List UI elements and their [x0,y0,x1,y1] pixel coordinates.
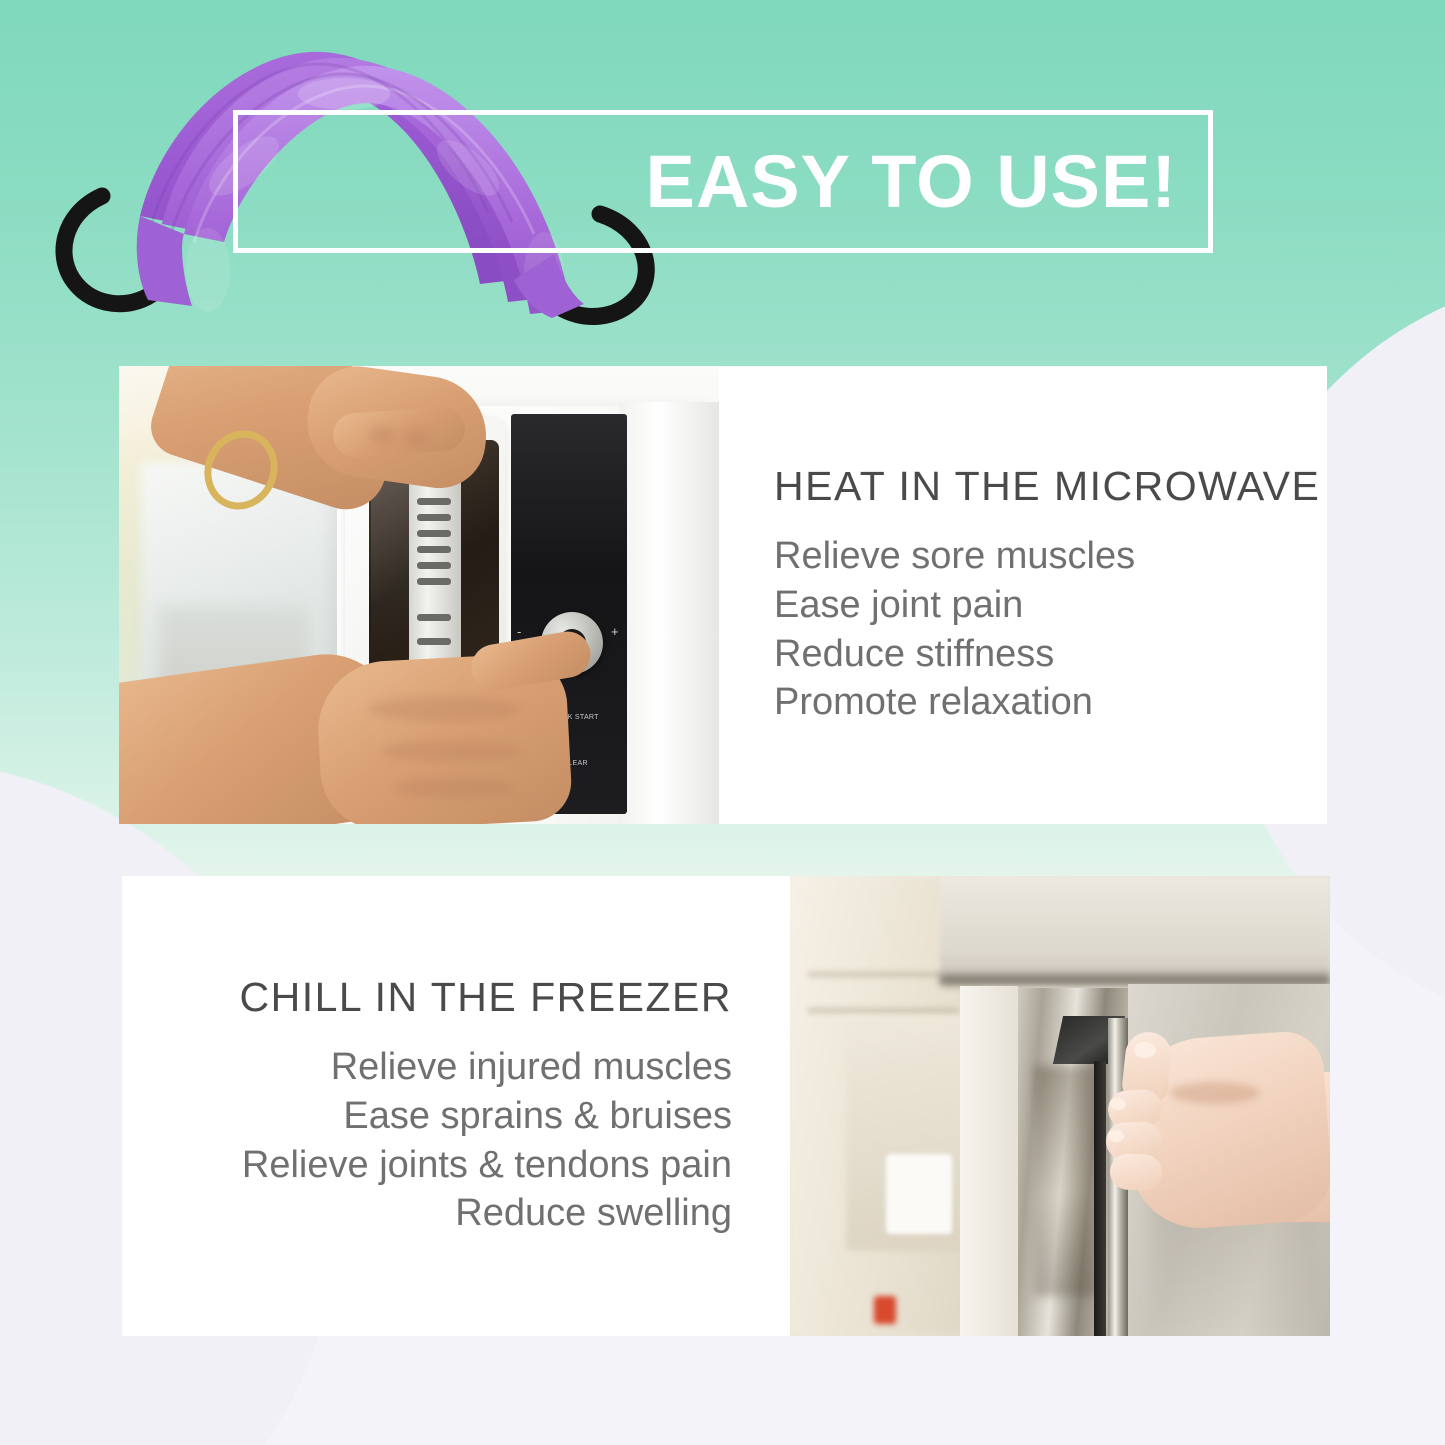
fingernail [1110,1098,1126,1110]
hero-title: EASY TO USE! [233,110,1213,253]
fingernail [1108,1130,1124,1142]
chill-card-text: CHILL IN THE FREEZER Relieve injured mus… [122,876,790,1336]
knuckle-shadow [393,778,513,798]
steel-reflection [1034,1066,1096,1296]
benefit-item: Relieve injured muscles [242,1043,732,1092]
shelf-line [808,972,958,977]
freezer-photo [790,876,1330,1336]
vent-slot [417,638,451,645]
knuckle-shadow [381,740,521,762]
infographic-canvas: EASY TO USE! [0,0,1445,1445]
benefit-item: Promote relaxation [774,678,1135,727]
upper-fingers [332,405,467,458]
dial-plus-label: + [611,624,619,639]
dial-minus-label: - [517,624,521,639]
benefit-item: Reduce swelling [242,1189,732,1238]
vent-slot [417,562,451,569]
benefit-item: Reduce stiffness [774,630,1135,679]
puff-highlight-4 [186,228,230,312]
vent-slot [417,498,451,505]
interior-container [886,1154,952,1234]
chill-card-heading: CHILL IN THE FREEZER [240,974,732,1021]
vent-slot [417,530,451,537]
heat-card-heading: HEAT IN THE MICROWAVE [774,463,1320,510]
interior-red-item [874,1296,896,1324]
wrap-cap-left [137,216,192,306]
fridge-door-edge [960,986,1018,1336]
benefit-item: Relieve joints & tendons pain [242,1141,732,1190]
fridge-top-unit [940,876,1330,984]
microwave-photo: 0 Crispy Reheat Quick Defrost Clock Thai… [119,366,719,824]
vent-slot [417,614,451,621]
vent-slot [417,578,451,585]
handle-gap-shadow [1094,1061,1106,1336]
knuckle-shadow [369,426,395,444]
benefit-item: Relieve sore muscles [774,532,1135,581]
heat-card-text: HEAT IN THE MICROWAVE Relieve sore muscl… [719,366,1327,824]
fingernail [1134,1042,1156,1058]
shelf-line [808,1008,958,1013]
microwave-side-panel [619,402,719,824]
card-heat-in-the-microwave: 0 Crispy Reheat Quick Defrost Clock Thai… [119,366,1327,824]
chill-benefit-list: Relieve injured muscles Ease sprains & b… [242,1043,732,1238]
ring-finger [1109,1153,1162,1191]
heat-benefit-list: Relieve sore muscles Ease joint pain Red… [774,532,1135,727]
knuckle-shadow [369,696,519,722]
knuckle-shadow [403,428,429,446]
puff-highlight-2 [298,78,390,110]
card-chill-in-the-freezer: CHILL IN THE FREEZER Relieve injured mus… [122,876,1330,1336]
benefit-item: Ease joint pain [774,581,1135,630]
vent-slot [417,514,451,521]
benefit-item: Ease sprains & bruises [242,1092,732,1141]
vent-slot [417,546,451,553]
knuckle-shadow [1170,1082,1260,1104]
